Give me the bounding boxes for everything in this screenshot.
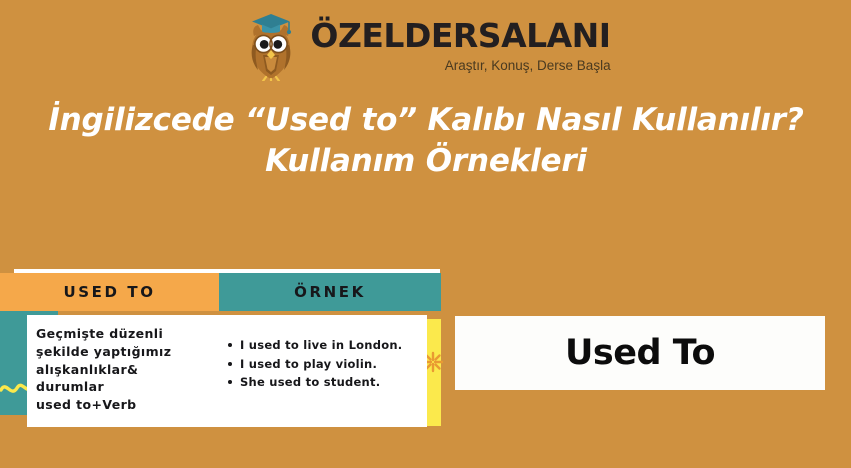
owl-graduate-icon	[240, 11, 302, 81]
page-title-line-1: İngilizcede “Used to” Kalıbı Nasıl Kulla…	[46, 100, 806, 141]
definition-line: durumlar	[36, 378, 219, 396]
column-header-used-to-label: USED TO	[63, 283, 155, 301]
example-list: I used to live in London. I used to play…	[227, 336, 427, 392]
brand-header: ÖZELDERSALANI Araştır, Konuş, Derse Başl…	[0, 4, 851, 86]
definition-line: şekilde yaptığımız	[36, 343, 219, 361]
brand-lockup: ÖZELDERSALANI Araştır, Konuş, Derse Başl…	[240, 9, 610, 81]
brand-wordmark: ÖZELDERSALANI Araştır, Konuş, Derse Başl…	[310, 9, 610, 73]
column-header-used-to: USED TO	[0, 273, 219, 311]
list-item: She used to student.	[227, 373, 427, 392]
definition-line: Geçmişte düzenli	[36, 325, 219, 343]
definition-line: used to+Verb	[36, 396, 219, 414]
used-to-panel: Used To	[455, 316, 825, 390]
list-item: I used to live in London.	[227, 336, 427, 355]
definition-cell: Geçmişte düzenli şekilde yaptığımız alış…	[27, 315, 219, 427]
infographic-body-row: Geçmişte düzenli şekilde yaptığımız alış…	[27, 315, 427, 427]
page-title-line-2: Kullanım Örnekleri	[46, 141, 806, 182]
list-item: I used to play violin.	[227, 355, 427, 374]
examples-cell: I used to live in London. I used to play…	[219, 315, 427, 427]
column-header-ornek: ÖRNEK	[219, 273, 441, 311]
infographic-header-row: USED TO ÖRNEK	[0, 273, 441, 311]
column-header-ornek-label: ÖRNEK	[294, 283, 366, 301]
definition-line: alışkanlıklar&	[36, 361, 219, 379]
brand-name: ÖZELDERSALANI	[310, 19, 610, 52]
brand-tagline: Araştır, Konuş, Derse Başla	[445, 59, 611, 73]
page-title: İngilizcede “Used to” Kalıbı Nasıl Kulla…	[46, 100, 806, 182]
used-to-infographic: USED TO ÖRNEK Geçmişte düzenli şekilde y…	[0, 265, 441, 431]
used-to-panel-heading: Used To	[565, 333, 715, 373]
page-root: ÖZELDERSALANI Araştır, Konuş, Derse Başl…	[0, 0, 851, 468]
